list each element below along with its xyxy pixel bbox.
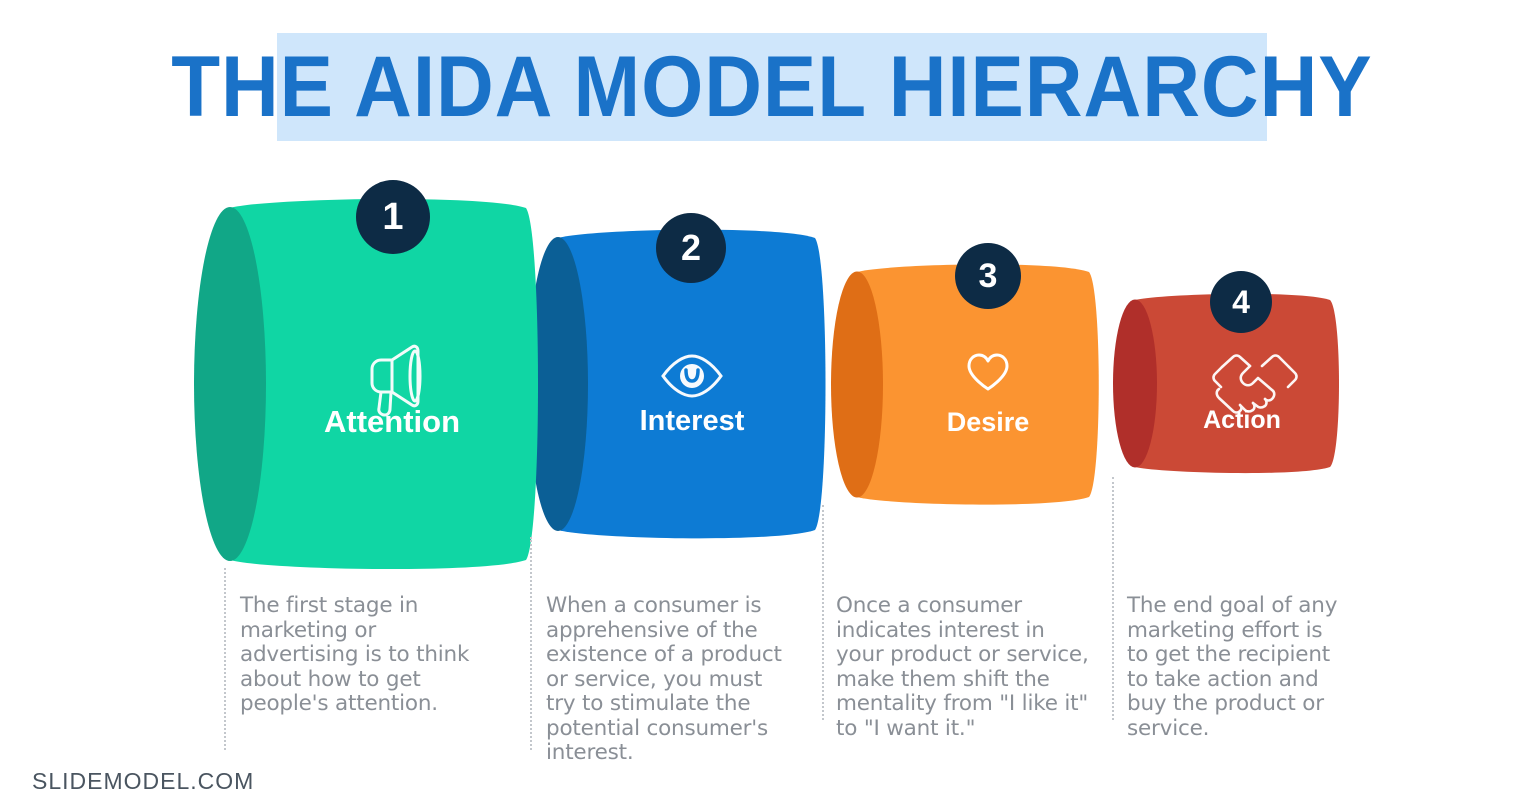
heart-icon <box>969 355 1007 389</box>
stage-label-interest: Interest <box>640 405 745 438</box>
stage-badge-1-number: 1 <box>382 196 403 239</box>
stage-description-1: The first stage in marketing or advertis… <box>240 594 480 717</box>
handshake-icon <box>1214 356 1297 413</box>
stage-badge-2-number: 2 <box>681 227 701 269</box>
watermark-slidemodel: SLIDEMODEL.COM <box>32 768 254 795</box>
page-title-banner: THE AIDA MODEL HIERARCHY <box>277 33 1267 141</box>
stage-badge-1: 1 <box>356 180 430 254</box>
stage-badge-2: 2 <box>656 213 726 283</box>
column-divider-1 <box>224 568 226 750</box>
column-divider-4 <box>1112 477 1114 720</box>
column-divider-2 <box>530 537 532 750</box>
stage-badge-3: 3 <box>955 243 1021 309</box>
stage-label-desire: Desire <box>947 407 1030 438</box>
stage-label-action: Action <box>1203 406 1281 435</box>
stage-badge-4: 4 <box>1210 271 1272 333</box>
eye-icon <box>663 356 721 396</box>
stage-label-attention: Attention <box>324 404 460 440</box>
stage-description-3: Once a consumer indicates interest in yo… <box>836 594 1091 741</box>
stage-badge-3-number: 3 <box>979 257 998 296</box>
column-divider-3 <box>822 505 824 720</box>
stage-description-2: When a consumer is apprehensive of the e… <box>546 594 788 766</box>
funnel-stage-1-shape <box>194 199 538 569</box>
stage-description-4: The end goal of any marketing effort is … <box>1127 594 1342 741</box>
page-title: THE AIDA MODEL HIERARCHY <box>171 44 1372 130</box>
stage-badge-4-number: 4 <box>1232 284 1250 321</box>
